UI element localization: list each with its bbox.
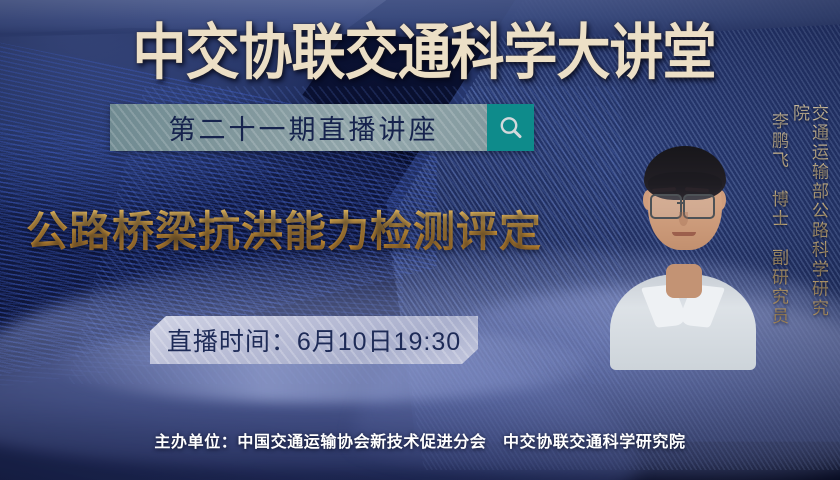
speaker-neck [666,264,702,298]
speaker-portrait [608,120,758,370]
speaker-glasses-bridge [677,202,684,204]
search-icon[interactable] [487,104,534,151]
subtitle-bar: 第二十一期直播讲座 [110,104,534,151]
speaker-nose [679,212,688,226]
speaker-mouth [672,232,696,236]
speaker-name-title: 李鹏飞 博士 副研究员 [769,112,788,327]
speaker-glasses-left-lens [650,194,682,219]
live-time-label: 直播时间：6月10日19:30 [167,322,461,358]
webinar-poster: 中交协联交通科学大讲堂 第二十一期直播讲座 公路桥梁抗洪能力检测评定 直播时间：… [0,0,840,480]
subtitle-label: 第二十一期直播讲座 [110,108,487,147]
page-title: 中交协联交通科学大讲堂 [132,18,716,87]
lecture-headline: 公路桥梁抗洪能力检测评定 [26,206,542,258]
organizer-footer: 主办单位：中国交通运输协会新技术促进分会 中交协联交通科学研究院 [0,428,840,452]
speaker-organization: 交通运输部公路科学研究院 [790,104,828,334]
live-time-chip: 直播时间：6月10日19:30 [150,316,478,364]
